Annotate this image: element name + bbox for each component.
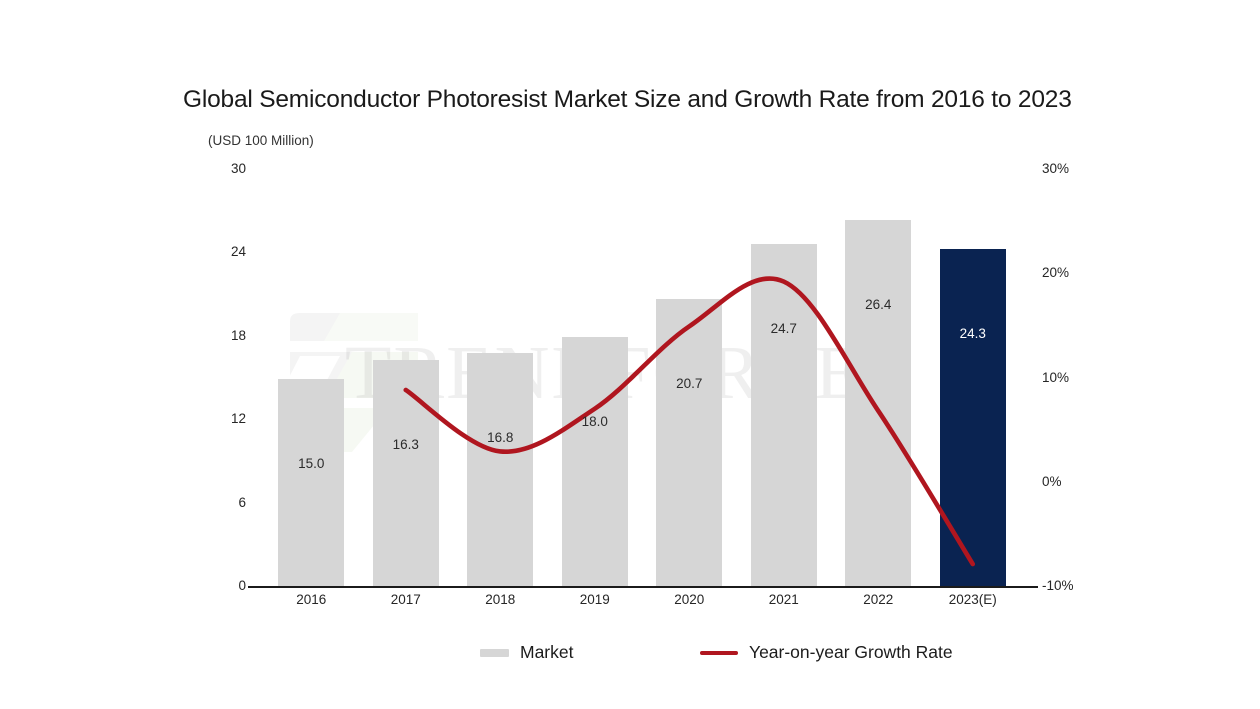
legend-item-growth-rate[interactable]: Year-on-year Growth Rate bbox=[700, 642, 953, 663]
bar-label-2016: 15.0 bbox=[271, 456, 351, 471]
chart-legend: Market Year-on-year Growth Rate bbox=[0, 640, 1260, 670]
x-axis-label-2023(E): 2023(E) bbox=[926, 592, 1020, 607]
x-axis-line bbox=[248, 586, 1038, 588]
bar-label-2018: 16.8 bbox=[460, 430, 540, 445]
y-axis-right-tick: 0% bbox=[1042, 474, 1102, 489]
x-axis-label-2020: 2020 bbox=[642, 592, 736, 607]
chart-title: Global Semiconductor Photoresist Market … bbox=[183, 86, 1183, 114]
growth-rate-line bbox=[264, 170, 1020, 587]
x-axis-label-2017: 2017 bbox=[359, 592, 453, 607]
legend-swatch-line bbox=[700, 651, 738, 655]
y-axis-left-tick: 18 bbox=[206, 328, 246, 343]
legend-item-market[interactable]: Market bbox=[480, 642, 573, 663]
legend-label-growth-rate: Year-on-year Growth Rate bbox=[749, 642, 953, 663]
x-axis-label-2022: 2022 bbox=[831, 592, 925, 607]
bar-label-2019: 18.0 bbox=[555, 414, 635, 429]
plot-area bbox=[264, 170, 1020, 587]
x-axis-label-2016: 2016 bbox=[264, 592, 358, 607]
x-axis-label-2018: 2018 bbox=[453, 592, 547, 607]
legend-swatch-bar bbox=[480, 649, 509, 657]
y-axis-left-tick: 6 bbox=[206, 495, 246, 510]
legend-label-market: Market bbox=[520, 642, 573, 663]
x-axis-label-2021: 2021 bbox=[737, 592, 831, 607]
bar-label-2022: 26.4 bbox=[838, 297, 918, 312]
y-axis-left-tick: 30 bbox=[206, 161, 246, 176]
y-axis-right-tick: 20% bbox=[1042, 265, 1102, 280]
bar-label-2017: 16.3 bbox=[366, 437, 446, 452]
x-axis-label-2019: 2019 bbox=[548, 592, 642, 607]
chart-subtitle: (USD 100 Million) bbox=[208, 133, 314, 148]
y-axis-right-tick: 10% bbox=[1042, 370, 1102, 385]
y-axis-left-tick: 0 bbox=[206, 578, 246, 593]
y-axis-right-tick: -10% bbox=[1042, 578, 1102, 593]
growth-rate-path bbox=[406, 278, 973, 564]
bar-label-2021: 24.7 bbox=[744, 321, 824, 336]
bar-label-2023(E): 24.3 bbox=[933, 326, 1013, 341]
y-axis-left-tick: 24 bbox=[206, 244, 246, 259]
y-axis-left-tick: 12 bbox=[206, 411, 246, 426]
y-axis-right-tick: 30% bbox=[1042, 161, 1102, 176]
bar-label-2020: 20.7 bbox=[649, 376, 729, 391]
